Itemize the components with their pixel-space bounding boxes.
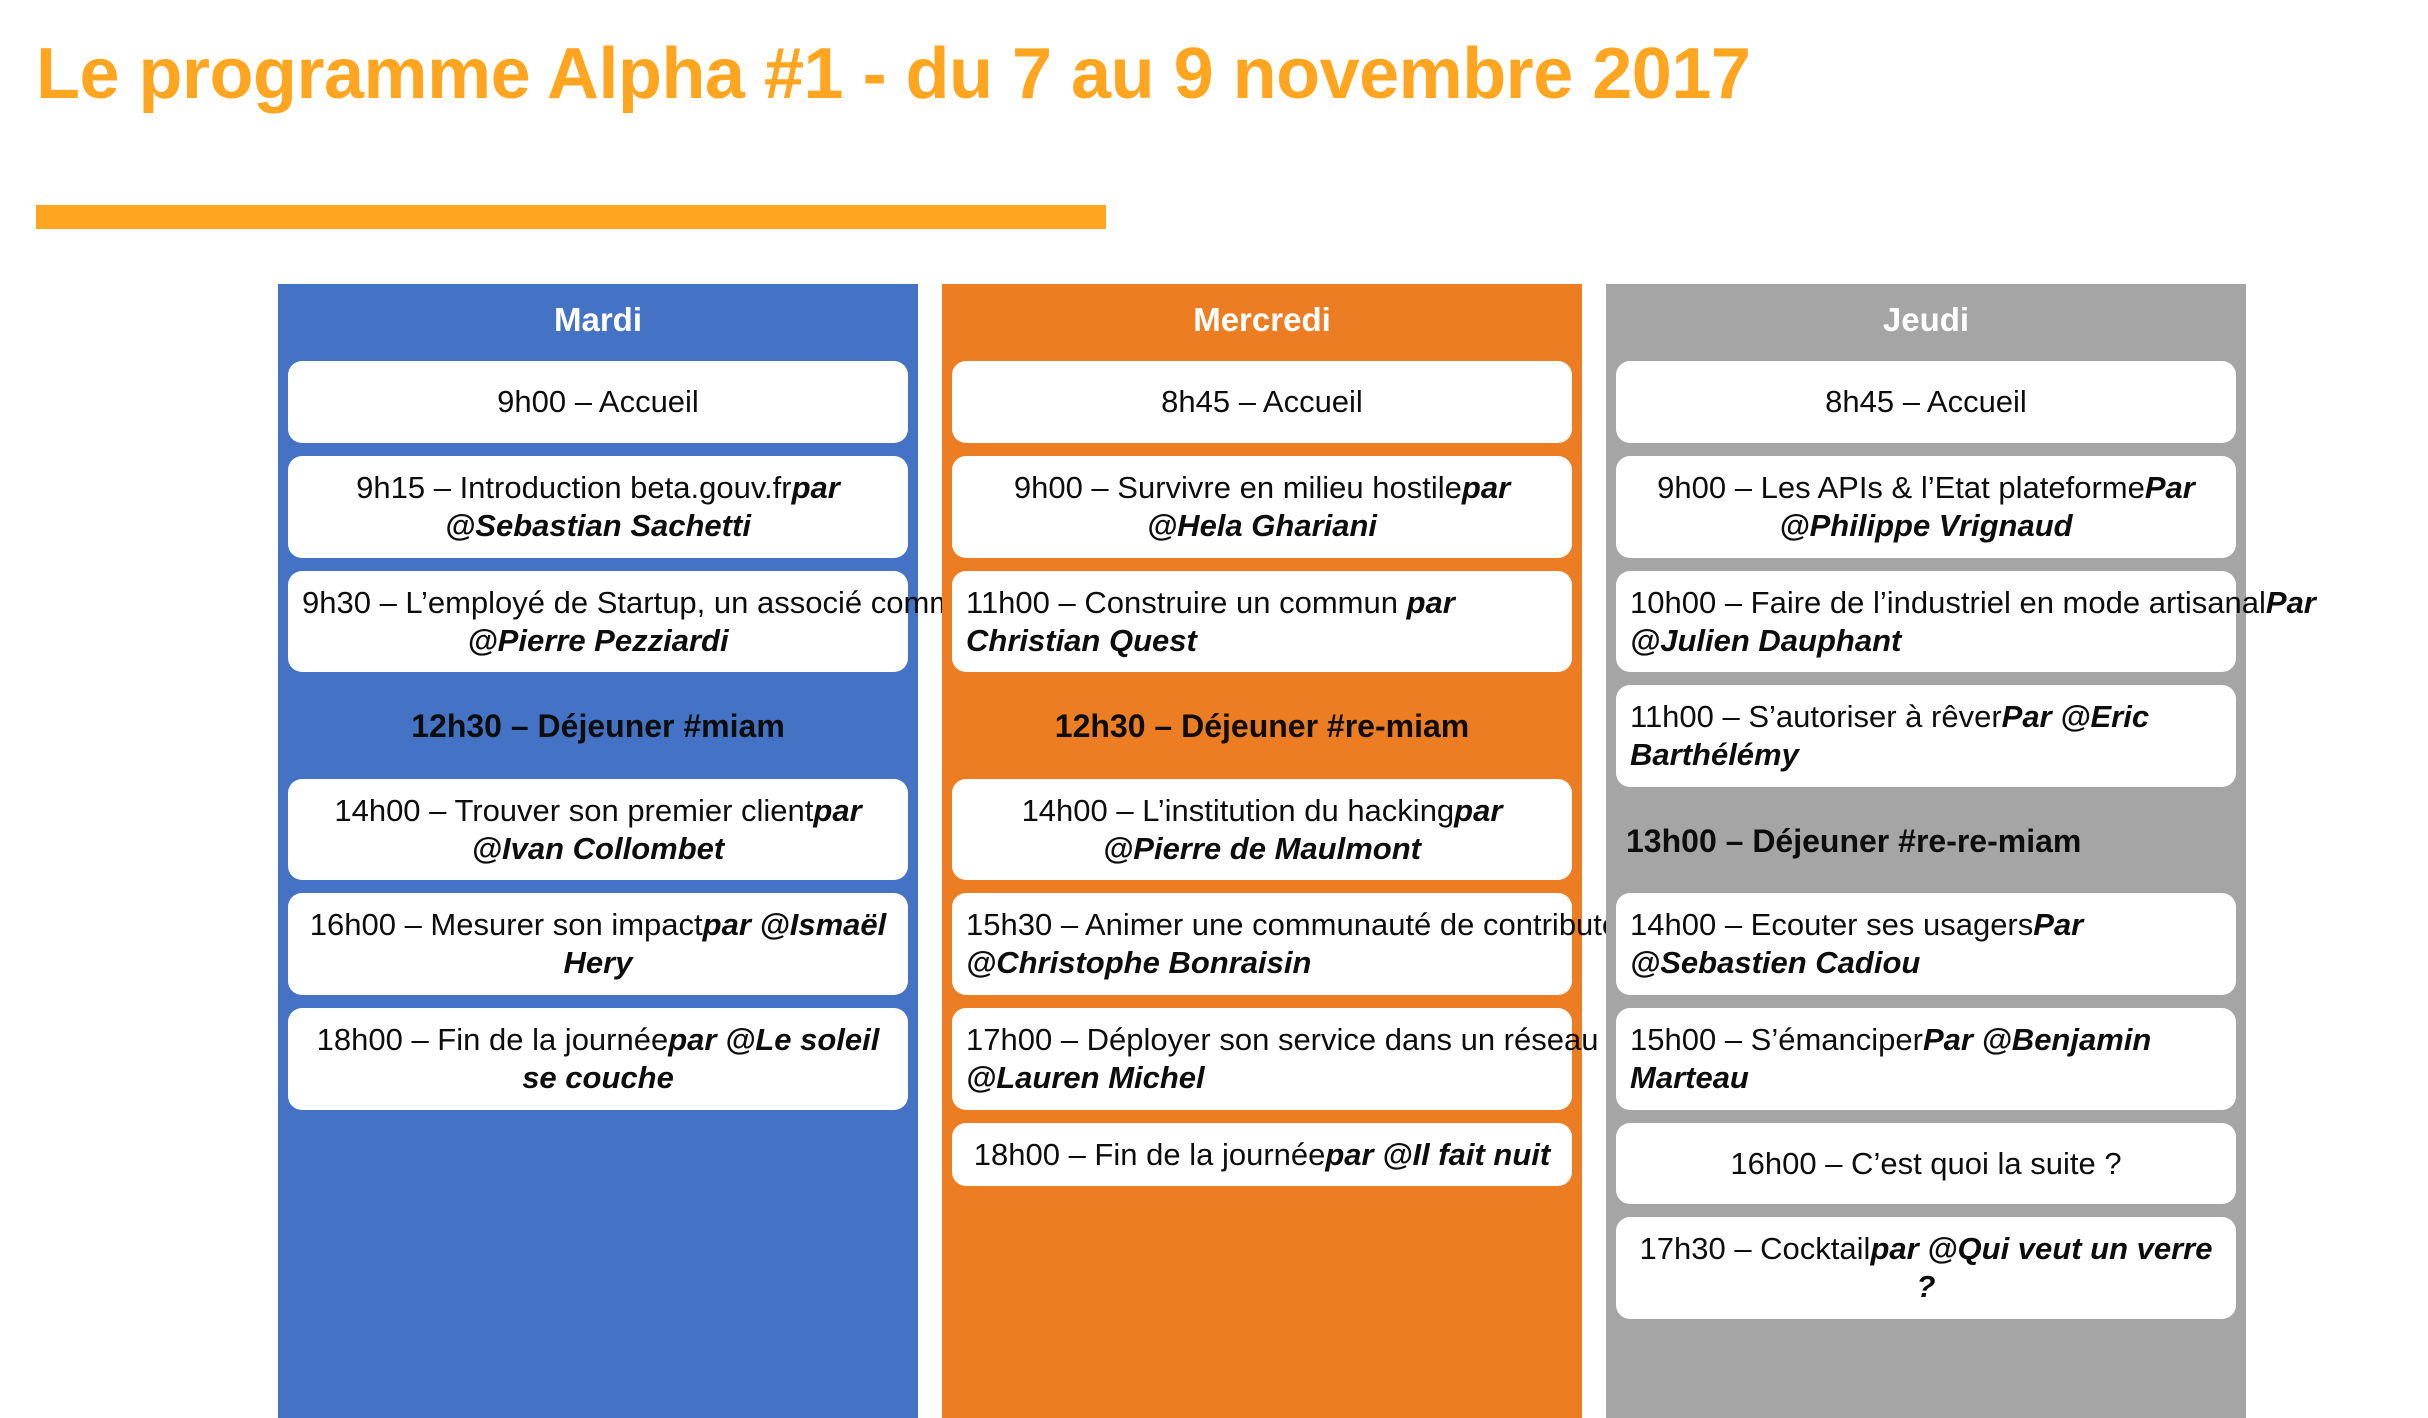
- session-card: 18h00 – Fin de la journéepar @Le soleil …: [288, 1008, 908, 1110]
- session-card: 10h00 – Faire de l’industriel en mode ar…: [1616, 571, 2236, 673]
- session-card: 18h00 – Fin de la journéepar @Il fait nu…: [952, 1123, 1572, 1187]
- session-card: 9h00 – Survivre en milieu hostilepar @He…: [952, 456, 1572, 558]
- column-header-mardi: Mardi: [288, 294, 908, 348]
- meal-label: 12h30 – Déjeuner #re-miam: [1055, 708, 1469, 744]
- meal-break-row: 12h30 – Déjeuner #re-miam: [952, 685, 1572, 765]
- session-card: 8h45 – Accueil: [1616, 361, 2236, 443]
- session-card: 9h30 – L’employé de Startup, un associé …: [288, 571, 908, 673]
- session-speaker: par @Il fait nuit: [1325, 1137, 1550, 1172]
- meal-break-row: 12h30 – Déjeuner #miam: [288, 685, 908, 765]
- session-card: 15h00 – S’émanciperPar @Benjamin Marteau: [1616, 1008, 2236, 1110]
- session-card: 9h00 – Accueil: [288, 361, 908, 443]
- session-topic: 9h15 – Introduction beta.gouv.fr: [356, 470, 791, 505]
- session-topic: 10h00 – Faire de l’industriel en mode ar…: [1630, 585, 2266, 620]
- session-card: 9h15 – Introduction beta.gouv.frpar @Seb…: [288, 456, 908, 558]
- session-topic: 17h00 – Déployer son service dans un rés…: [966, 1022, 1616, 1057]
- day-column-mardi: Mardi 9h00 – Accueil9h15 – Introduction …: [278, 284, 918, 1418]
- session-card: 14h00 – Trouver son premier clientpar @I…: [288, 779, 908, 881]
- title-underline-rule: [36, 205, 1106, 229]
- session-topic: 17h30 – Cocktail: [1640, 1231, 1871, 1266]
- day-column-mercredi: Mercredi 8h45 – Accueil9h00 – Survivre e…: [942, 284, 1582, 1418]
- session-card: 15h30 – Animer une communauté de contrib…: [952, 893, 1572, 995]
- session-card: 16h00 – C’est quoi la suite ?: [1616, 1123, 2236, 1205]
- session-topic: 18h00 – Fin de la journée: [974, 1137, 1326, 1172]
- column-items-jeudi: 8h45 – Accueil9h00 – Les APIs & l’Etat p…: [1616, 361, 2236, 1319]
- session-card: 11h00 – Construire un commun par Christi…: [952, 571, 1572, 673]
- session-topic: 11h00 – S’autoriser à rêver: [1630, 699, 2002, 734]
- column-items-mercredi: 8h45 – Accueil9h00 – Survivre en milieu …: [952, 361, 1572, 1186]
- session-topic: 14h00 – L’institution du hacking: [1022, 793, 1455, 828]
- session-card: 9h00 – Les APIs & l’Etat plateformePar @…: [1616, 456, 2236, 558]
- page-title: Le programme Alpha #1 - du 7 au 9 novemb…: [36, 38, 2236, 110]
- column-header-mercredi: Mercredi: [952, 294, 1572, 348]
- session-topic: 9h00 – Accueil: [497, 384, 699, 419]
- session-card: 17h30 – Cocktailpar @Qui veut un verre ?: [1616, 1217, 2236, 1319]
- session-topic: 9h00 – Les APIs & l’Etat plateforme: [1657, 470, 2145, 505]
- session-topic: 11h00 – Construire un commun: [966, 585, 1407, 620]
- session-topic: 8h45 – Accueil: [1825, 384, 2027, 419]
- session-card: 14h00 – Ecouter ses usagersPar @Sebastie…: [1616, 893, 2236, 995]
- session-card: 11h00 – S’autoriser à rêverPar @Eric Bar…: [1616, 685, 2236, 787]
- session-topic: 15h00 – S’émanciper: [1630, 1022, 1923, 1057]
- session-topic: 16h00 – C’est quoi la suite ?: [1730, 1146, 2121, 1181]
- meal-break-row: 13h00 – Déjeuner #re-re-miam: [1616, 800, 2236, 880]
- schedule-columns: Mardi 9h00 – Accueil9h15 – Introduction …: [278, 284, 2248, 1418]
- session-topic: 15h30 – Animer une communauté de contrib…: [966, 907, 1662, 942]
- session-speaker: par @Qui veut un verre ?: [1870, 1231, 2212, 1304]
- meal-label: 13h00 – Déjeuner #re-re-miam: [1626, 823, 2081, 859]
- session-card: 14h00 – L’institution du hackingpar @Pie…: [952, 779, 1572, 881]
- slide: Le programme Alpha #1 - du 7 au 9 novemb…: [0, 0, 2428, 1418]
- session-card: 17h00 – Déployer son service dans un rés…: [952, 1008, 1572, 1110]
- session-card: 8h45 – Accueil: [952, 361, 1572, 443]
- session-topic: 9h00 – Survivre en milieu hostile: [1014, 470, 1462, 505]
- column-header-jeudi: Jeudi: [1616, 294, 2236, 348]
- column-items-mardi: 9h00 – Accueil9h15 – Introduction beta.g…: [288, 361, 908, 1109]
- session-card: 16h00 – Mesurer son impactpar @Ismaël He…: [288, 893, 908, 995]
- day-column-jeudi: Jeudi 8h45 – Accueil9h00 – Les APIs & l’…: [1606, 284, 2246, 1418]
- session-topic: 8h45 – Accueil: [1161, 384, 1363, 419]
- session-topic: 14h00 – Trouver son premier client: [334, 793, 813, 828]
- session-topic: 18h00 – Fin de la journée: [317, 1022, 669, 1057]
- session-topic: 14h00 – Ecouter ses usagers: [1630, 907, 2033, 942]
- session-topic: 16h00 – Mesurer son impact: [310, 907, 703, 942]
- meal-label: 12h30 – Déjeuner #miam: [411, 708, 785, 744]
